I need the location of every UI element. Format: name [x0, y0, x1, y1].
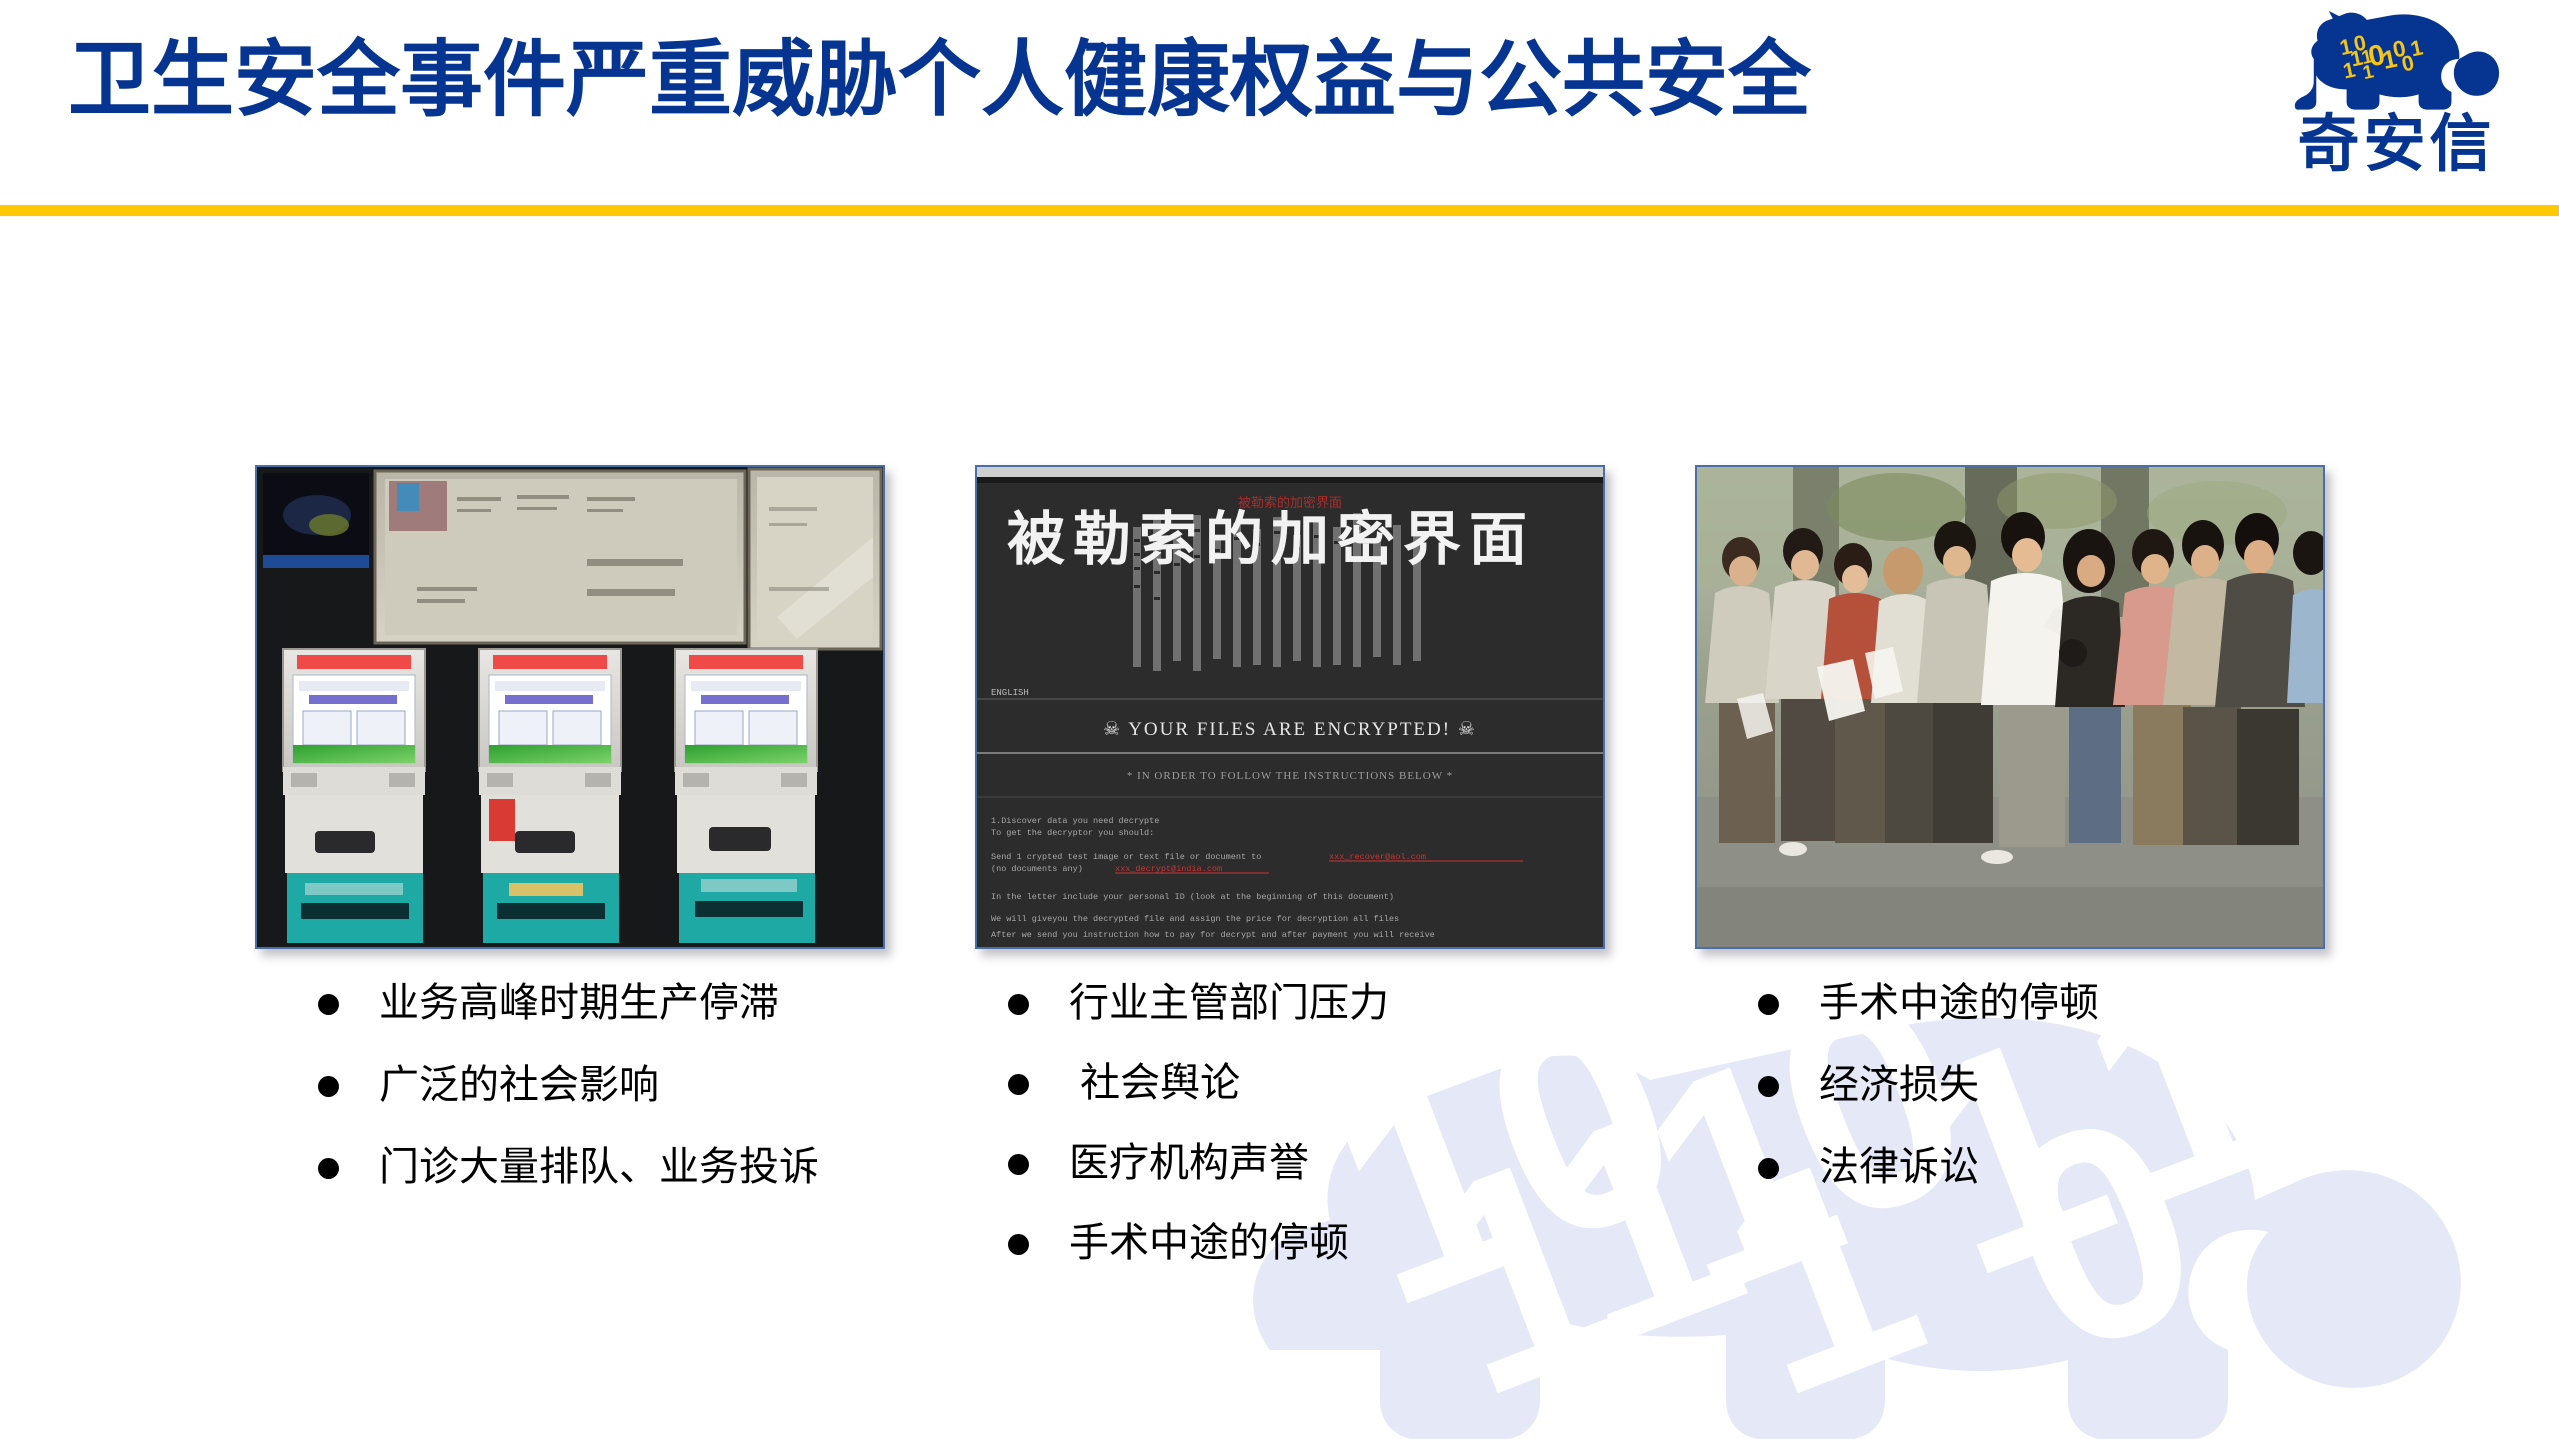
svg-text:Send 1 crypted test image or t: Send 1 crypted test image or text file o…: [991, 852, 1261, 862]
bullet-dot-icon: [1008, 994, 1029, 1015]
bullet-list-3: 手术中途的停顿 经济损失 法律诉讼: [1758, 980, 2378, 1226]
svg-text:1.Discover data you need decry: 1.Discover data you need decrypte: [991, 816, 1159, 826]
svg-text:☠ YOUR FILES ARE ENCRYPTED!: ☠ YOUR FILES ARE ENCRYPTED! ☠: [1103, 719, 1477, 740]
bullet-dot-icon: [1758, 1076, 1779, 1097]
bullet-text: 广泛的社会影响: [379, 1062, 659, 1108]
list-item: 业务高峰时期生产停滞: [318, 980, 938, 1026]
ransomware-screen-photo: 被勒索的加密界面 被勒索的加密界面 ENGLISH ☠ YOUR FILES A…: [975, 465, 1605, 949]
content-columns: 业务高峰时期生产停滞 广泛的社会影响 门诊大量排队、业务投诉: [0, 455, 2559, 1355]
list-item: 行业主管部门压力: [1008, 980, 1648, 1026]
list-item: 手术中途的停顿: [1008, 1220, 1648, 1266]
list-item: 法律诉讼: [1758, 1144, 2378, 1190]
bullet-dot-icon: [1008, 1074, 1029, 1095]
logo-brand-text: 奇安信: [2289, 114, 2504, 176]
svg-text:* IN ORDER TO FOLLOW THE INSTR: * IN ORDER TO FOLLOW THE INSTRUCTIONS BE…: [1127, 770, 1453, 782]
bullet-dot-icon: [318, 994, 339, 1015]
page-title: 卫生安全事件严重威胁个人健康权益与公共安全: [68, 36, 1811, 123]
svg-text:ENGLISH: ENGLISH: [991, 688, 1029, 698]
bullet-text: 行业主管部门压力: [1069, 980, 1389, 1026]
patients-queue-photo: [1695, 465, 2325, 949]
bullet-text: 法律诉讼: [1819, 1144, 1979, 1190]
bullet-dot-icon: [318, 1158, 339, 1179]
bullet-dot-icon: [1008, 1154, 1029, 1175]
bullet-dot-icon: [1758, 994, 1779, 1015]
bullet-dot-icon: [318, 1076, 339, 1097]
svg-text:To get the decryptor you shoul: To get the decryptor you should:: [991, 828, 1154, 838]
list-item: 广泛的社会影响: [318, 1062, 938, 1108]
bullet-text: 门诊大量排队、业务投诉: [379, 1144, 819, 1190]
bullet-list-2: 行业主管部门压力 社会舆论 医疗机构声誉 手术中途的停顿: [1008, 980, 1648, 1300]
slide-header: 卫生安全事件严重威胁个人健康权益与公共安全: [0, 0, 2559, 205]
slide-root: 1 1 0 1 1 1 0 1 0 1 卫生安全事件严重威胁个人健康权益与公共安…: [0, 0, 2559, 1439]
bullet-text: 手术中途的停顿: [1819, 980, 2099, 1026]
bullet-text: 手术中途的停顿: [1069, 1220, 1349, 1266]
bullet-text: 经济损失: [1819, 1062, 1979, 1108]
svg-text:After we send you instruction: After we send you instruction how to pay…: [991, 930, 1435, 940]
list-item: 门诊大量排队、业务投诉: [318, 1144, 938, 1190]
bullet-text: 社会舆论: [1069, 1060, 1240, 1106]
bullet-dot-icon: [1758, 1158, 1779, 1179]
hospital-self-service-kiosks-photo: [255, 465, 885, 949]
list-item: 社会舆论: [1008, 1060, 1648, 1106]
list-item: 医疗机构声誉: [1008, 1140, 1648, 1186]
header-divider: [0, 205, 2559, 216]
bullet-text: 医疗机构声誉: [1069, 1140, 1309, 1186]
svg-text:In the letter include your per: In the letter include your personal ID (…: [991, 892, 1394, 902]
svg-text:(no documents any): (no documents any): [991, 864, 1083, 874]
bullet-text: 业务高峰时期生产停滞: [379, 980, 779, 1026]
tiger-binary-icon: 1 1 1 0 1 1 0 1 0 0 1: [2289, 6, 2504, 126]
bullet-dot-icon: [1008, 1234, 1029, 1255]
bullet-list-1: 业务高峰时期生产停滞 广泛的社会影响 门诊大量排队、业务投诉: [318, 980, 938, 1226]
list-item: 手术中途的停顿: [1758, 980, 2378, 1026]
list-item: 经济损失: [1758, 1062, 2378, 1108]
qianxin-logo: 1 1 1 0 1 1 0 1 0 0 1 奇安信: [2289, 6, 2504, 201]
svg-text:被勒索的加密界面: 被勒索的加密界面: [1007, 507, 1535, 572]
svg-text:We will giveyou the decrypted: We will giveyou the decrypted file and a…: [991, 914, 1399, 924]
